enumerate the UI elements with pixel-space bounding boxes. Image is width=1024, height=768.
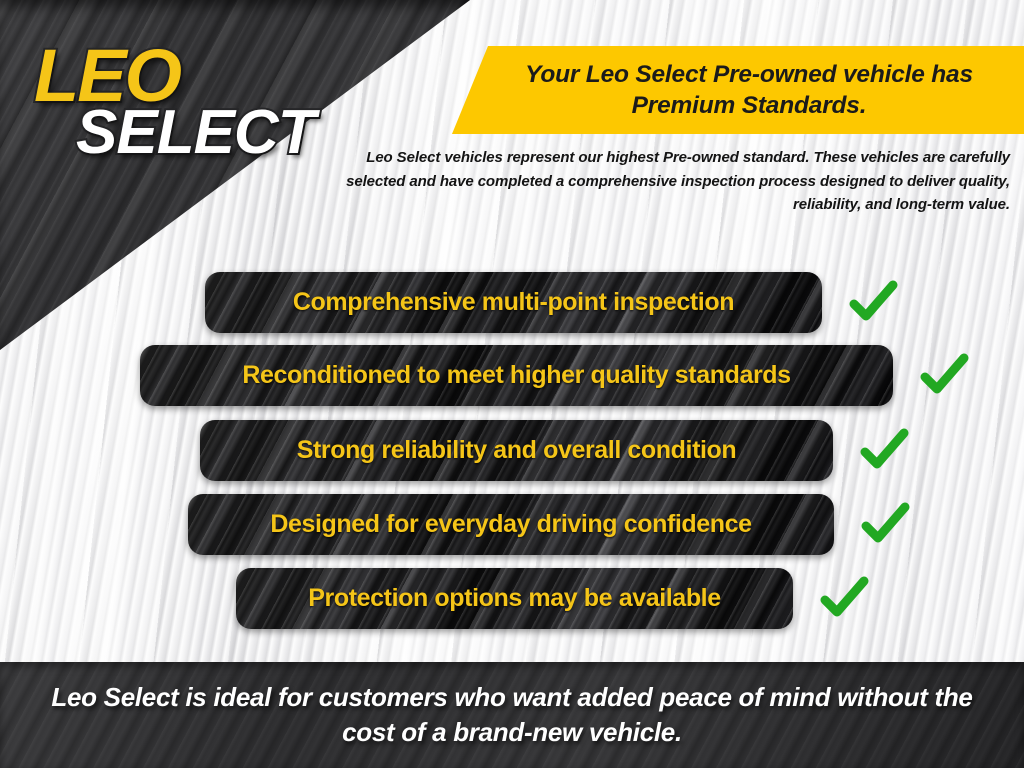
feature-pill-5: Protection options may be available (236, 568, 793, 629)
footer-bar: Leo Select is ideal for customers who wa… (0, 662, 1024, 768)
feature-label-2: Reconditioned to meet higher quality sta… (242, 363, 790, 388)
check-icon (819, 574, 869, 624)
feature-label-5: Protection options may be available (308, 586, 721, 611)
feature-row-3: Strong reliability and overall condition (200, 420, 909, 481)
leo-select-promo-poster: LEO SELECT Your Leo Select Pre-owned veh… (0, 0, 1024, 768)
intro-paragraph: Leo Select vehicles represent our highes… (310, 146, 1010, 217)
check-icon (860, 500, 910, 550)
feature-pill-2: Reconditioned to meet higher quality sta… (140, 345, 893, 406)
logo-text-select: SELECT (76, 104, 334, 163)
feature-pill-3: Strong reliability and overall condition (200, 420, 833, 481)
check-icon (919, 351, 969, 401)
feature-row-4: Designed for everyday driving confidence (188, 494, 910, 555)
feature-label-3: Strong reliability and overall condition (297, 438, 737, 463)
feature-pill-4: Designed for everyday driving confidence (188, 494, 834, 555)
feature-pill-1: Comprehensive multi-point inspection (205, 272, 822, 333)
brand-logo: LEO SELECT (34, 42, 334, 163)
footer-text: Leo Select is ideal for customers who wa… (0, 680, 1024, 750)
check-icon (848, 278, 898, 328)
headline-text: Your Leo Select Pre-owned vehicle has Pr… (452, 59, 1024, 122)
feature-label-1: Comprehensive multi-point inspection (293, 290, 734, 315)
feature-row-1: Comprehensive multi-point inspection (205, 272, 898, 333)
headline-banner: Your Leo Select Pre-owned vehicle has Pr… (452, 46, 1024, 134)
check-icon (859, 426, 909, 476)
feature-label-4: Designed for everyday driving confidence (270, 512, 751, 537)
feature-row-2: Reconditioned to meet higher quality sta… (140, 345, 969, 406)
feature-row-5: Protection options may be available (236, 568, 869, 629)
